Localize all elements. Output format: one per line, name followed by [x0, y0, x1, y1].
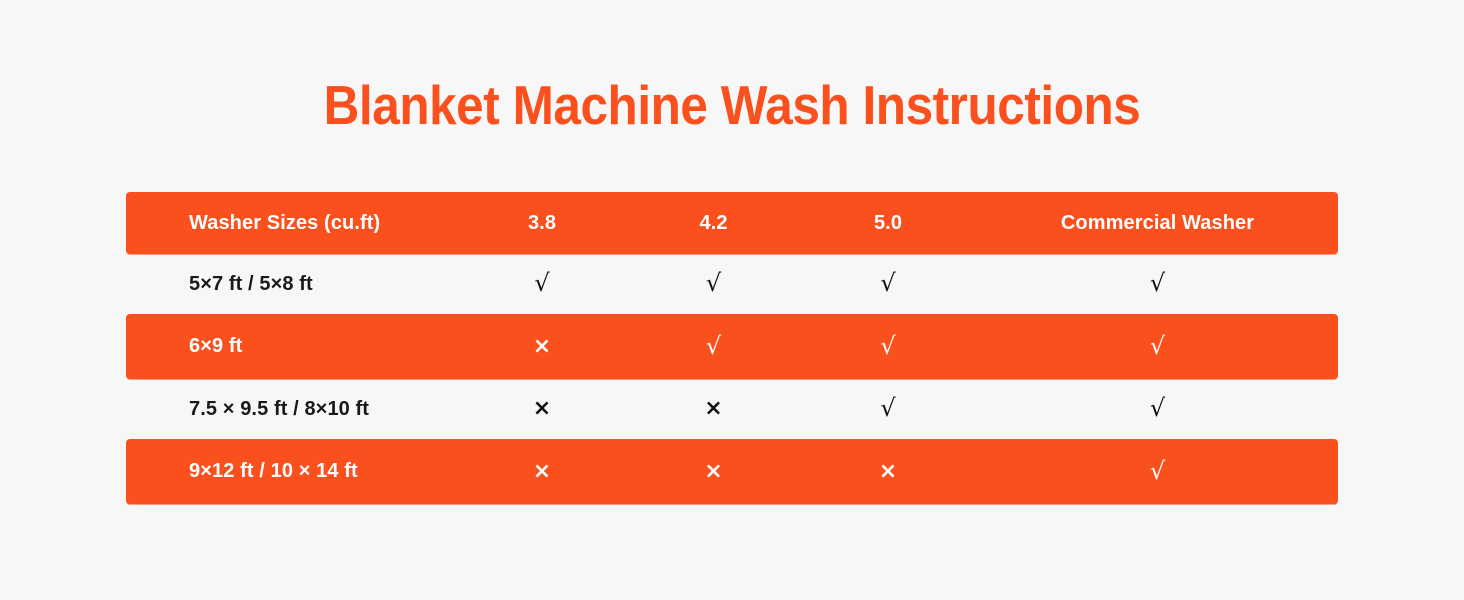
check-icon: √	[880, 271, 895, 295]
column-header-4-2: 4.2	[628, 212, 799, 235]
cross-icon: ×	[704, 398, 722, 420]
washer-compatibility-table: Washer Sizes (cu.ft) 3.8 4.2 5.0 Commerc…	[126, 192, 1338, 504]
page-title: Blanket Machine Wash Instructions	[73, 72, 1391, 138]
column-header-sizes: Washer Sizes (cu.ft)	[126, 212, 456, 235]
cell-5-0: √	[799, 272, 977, 296]
cell-commercial-washer: √	[977, 397, 1338, 421]
row-label: 9×12 ft / 10 × 14 ft	[189, 460, 358, 483]
cell-commercial-washer: √	[977, 272, 1338, 296]
cell-4-2: √	[628, 335, 799, 359]
check-icon: √	[706, 271, 721, 295]
cell-5-0: √	[799, 335, 977, 359]
column-header-5-0: 5.0	[799, 212, 977, 235]
row-label-cell: 6×9 ft	[126, 335, 456, 358]
row-label: 7.5 × 9.5 ft / 8×10 ft	[189, 398, 369, 421]
row-label: 5×7 ft / 5×8 ft	[189, 273, 313, 296]
cell-3-8: ×	[456, 336, 628, 358]
cross-icon: ×	[879, 461, 897, 483]
table-row: 7.5 × 9.5 ft / 8×10 ft × × √ √	[126, 379, 1338, 439]
column-header-4-2-label: 4.2	[699, 212, 727, 235]
column-header-commercial-washer: Commercial Washer	[977, 212, 1338, 235]
check-icon: √	[880, 334, 895, 358]
check-icon: √	[534, 271, 549, 295]
cross-icon: ×	[704, 461, 722, 483]
cell-5-0: √	[799, 397, 977, 421]
cross-icon: ×	[533, 336, 551, 358]
table-row: 9×12 ft / 10 × 14 ft × × × √	[126, 439, 1338, 504]
row-label-cell: 5×7 ft / 5×8 ft	[126, 273, 456, 296]
column-header-commercial-washer-label: Commercial Washer	[1061, 212, 1254, 235]
table-header-row: Washer Sizes (cu.ft) 3.8 4.2 5.0 Commerc…	[126, 192, 1338, 254]
cell-3-8: √	[456, 272, 628, 296]
cross-icon: ×	[533, 398, 551, 420]
row-label-cell: 7.5 × 9.5 ft / 8×10 ft	[126, 398, 456, 421]
column-header-3-8-label: 3.8	[528, 212, 556, 235]
cell-4-2: ×	[628, 461, 799, 483]
table-row: 6×9 ft × √ √ √	[126, 314, 1338, 379]
cell-3-8: ×	[456, 398, 628, 420]
cell-4-2: ×	[628, 398, 799, 420]
column-header-5-0-label: 5.0	[874, 212, 902, 235]
check-icon: √	[1150, 271, 1165, 295]
cell-3-8: ×	[456, 461, 628, 483]
cell-commercial-washer: √	[977, 460, 1338, 484]
cell-4-2: √	[628, 272, 799, 296]
check-icon: √	[1150, 334, 1165, 358]
cross-icon: ×	[533, 461, 551, 483]
table-row: 5×7 ft / 5×8 ft √ √ √ √	[126, 254, 1338, 314]
row-label-cell: 9×12 ft / 10 × 14 ft	[126, 460, 456, 483]
row-label: 6×9 ft	[189, 335, 242, 358]
check-icon: √	[880, 396, 895, 420]
check-icon: √	[1150, 459, 1165, 483]
column-header-sizes-label: Washer Sizes (cu.ft)	[189, 212, 380, 235]
cell-5-0: ×	[799, 461, 977, 483]
page-root: Blanket Machine Wash Instructions Washer…	[0, 0, 1464, 600]
cell-commercial-washer: √	[977, 335, 1338, 359]
column-header-3-8: 3.8	[456, 212, 628, 235]
check-icon: √	[1150, 396, 1165, 420]
check-icon: √	[706, 334, 721, 358]
